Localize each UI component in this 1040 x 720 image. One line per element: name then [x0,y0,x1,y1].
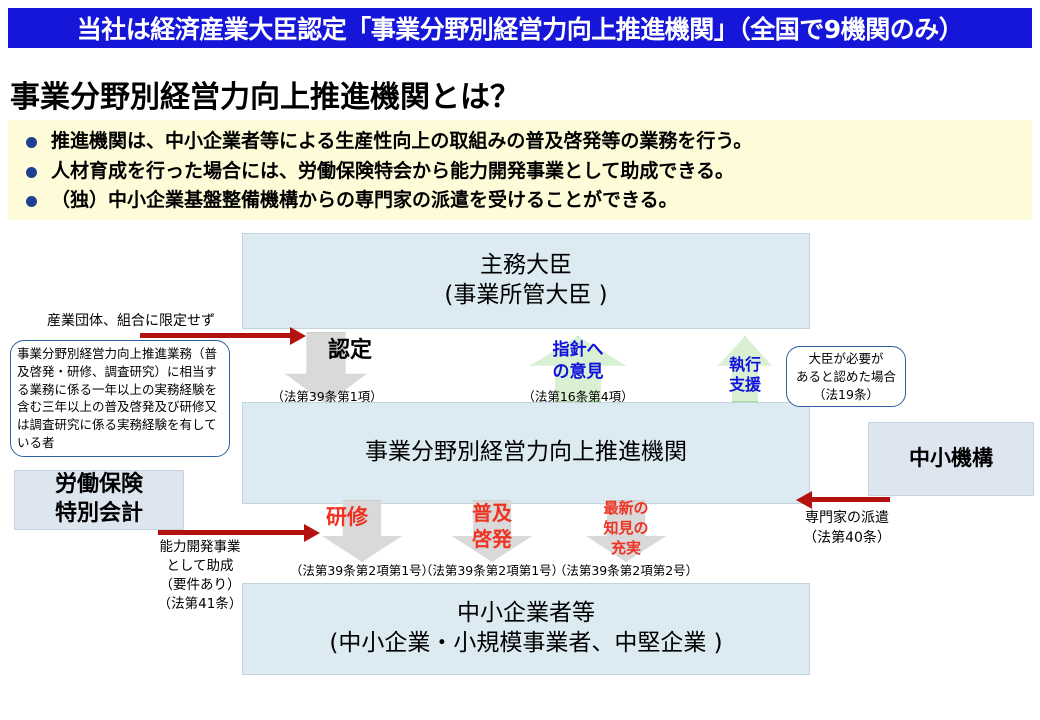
minister-note-line1: 大臣が必要が [791,350,901,368]
smrj-label: 中小機構 [909,445,993,472]
arrow-shishin-label-line2: の意見 [516,362,640,382]
dispatch-line2: （法第40条） [782,528,912,548]
insurance-label-line2: 特別会計 [55,500,143,529]
arrow-saishin-label-line1: 最新の [584,500,668,518]
arrow-shikkou-label-line2: 支援 [718,376,772,395]
smes-label-line2: (中小企業・小規模事業者、中堅企業 ) [329,629,722,659]
minister-label-line1: 主務大臣 [480,251,572,281]
page-title: 事業分野別経営力向上推進機関とは？ [10,72,520,116]
red-arrow-dispatch-shaft [812,497,890,502]
bullet-dot-icon [26,196,37,207]
subsidy-line2: として助成 [140,557,260,576]
red-arrow-dispatch-head-icon [796,491,812,509]
insurance-label-line1: 労働保険 [55,471,143,500]
arrow-fukyu-label-line1: 普及 [452,502,532,526]
label-not-limited: 産業団体、組合に限定せず [47,310,215,330]
subsidy-line1: 能力開発事業 [140,538,260,557]
bullet-text: （独）中小企業基盤整備機構からの専門家の派遣を受けることができる。 [51,187,678,215]
red-arrow-subsidy-head-icon [304,524,320,542]
dispatch-line1: 専門家の派遣 [782,508,912,528]
subsidy-line4: （法第41条） [140,595,260,614]
arrow-saishin-label-line2: 知見の [584,520,668,538]
banner-title: 当社は経済産業大臣認定「事業分野別経営力向上推進機関」（全国で9機関のみ） [77,10,963,46]
bullet-dot-icon [26,167,37,178]
label-subsidy: 能力開発事業 として助成 （要件あり） （法第41条） [140,538,260,615]
arrow-nintei-note: （法第39条第1項） [262,386,392,405]
diagram-box-minister: 主務大臣 (事業所管大臣 ) [242,233,810,329]
list-item: 人材育成を行った場合には、労働保険特会から能力開発事業として助成できる。 [26,158,1032,186]
diagram-box-labor-insurance: 労働保険 特別会計 [14,470,184,530]
callout-minister-note: 大臣が必要が あると認めた場合 （法19条） [786,346,906,407]
arrow-saishin-label-line3: 充実 [584,540,668,558]
agency-label: 事業分野別経営力向上推進機関 [365,438,687,468]
arrow-shikkou-label-line1: 執行 [718,356,772,375]
label-expert-dispatch: 専門家の派遣 （法第40条） [782,508,912,549]
slide-canvas: 当社は経済産業大臣認定「事業分野別経営力向上推進機関」（全国で9機関のみ） 事業… [0,0,1040,720]
list-item: 推進機関は、中小企業者等による生産性向上の取組みの普及啓発等の業務を行う。 [26,128,1032,156]
minister-note-line3: （法19条） [791,386,901,404]
bullet-text: 人材育成を行った場合には、労働保険特会から能力開発事業として助成できる。 [51,158,734,186]
bullet-text: 推進機関は、中小企業者等による生産性向上の取組みの普及啓発等の業務を行う。 [51,128,752,156]
minister-label-line2: (事業所管大臣 ) [444,281,607,311]
bullet-panel: 推進機関は、中小企業者等による生産性向上の取組みの普及啓発等の業務を行う。 人材… [8,120,1032,220]
arrow-shishin-note: （法第16条第4項） [508,386,648,405]
diagram-box-smes: 中小企業者等 (中小企業・小規模事業者、中堅企業 ) [242,583,810,675]
arrow-nintei-label: 認定 [310,338,390,364]
subsidy-line3: （要件あり） [140,576,260,595]
minister-note-line2: あると認めた場合 [791,368,901,386]
arrow-shishin-label-line1: 指針へ [516,340,640,360]
diagram-box-smrj: 中小機構 [868,422,1034,496]
bullet-dot-icon [26,137,37,148]
title-banner: 当社は経済産業大臣認定「事業分野別経営力向上推進機関」（全国で9機関のみ） [8,8,1032,48]
callout-eligibility-criteria: 事業分野別経営力向上推進業務（普及啓発・研修、調査研究）に相当する業務に係る一年… [10,340,230,457]
arrow-fukyu-label-line2: 啓発 [452,528,532,552]
arrow-saishin-note: （法第39条第2項第2号） [526,560,726,579]
diagram-box-agency: 事業分野別経営力向上推進機関 [242,402,810,504]
smes-label-line1: 中小企業者等 [457,599,595,629]
list-item: （独）中小企業基盤整備機構からの専門家の派遣を受けることができる。 [26,187,1032,215]
red-arrow-subsidy-shaft [158,530,306,535]
red-arrow-accreditation-shaft [140,333,292,338]
red-arrow-accreditation-head-icon [290,327,306,345]
